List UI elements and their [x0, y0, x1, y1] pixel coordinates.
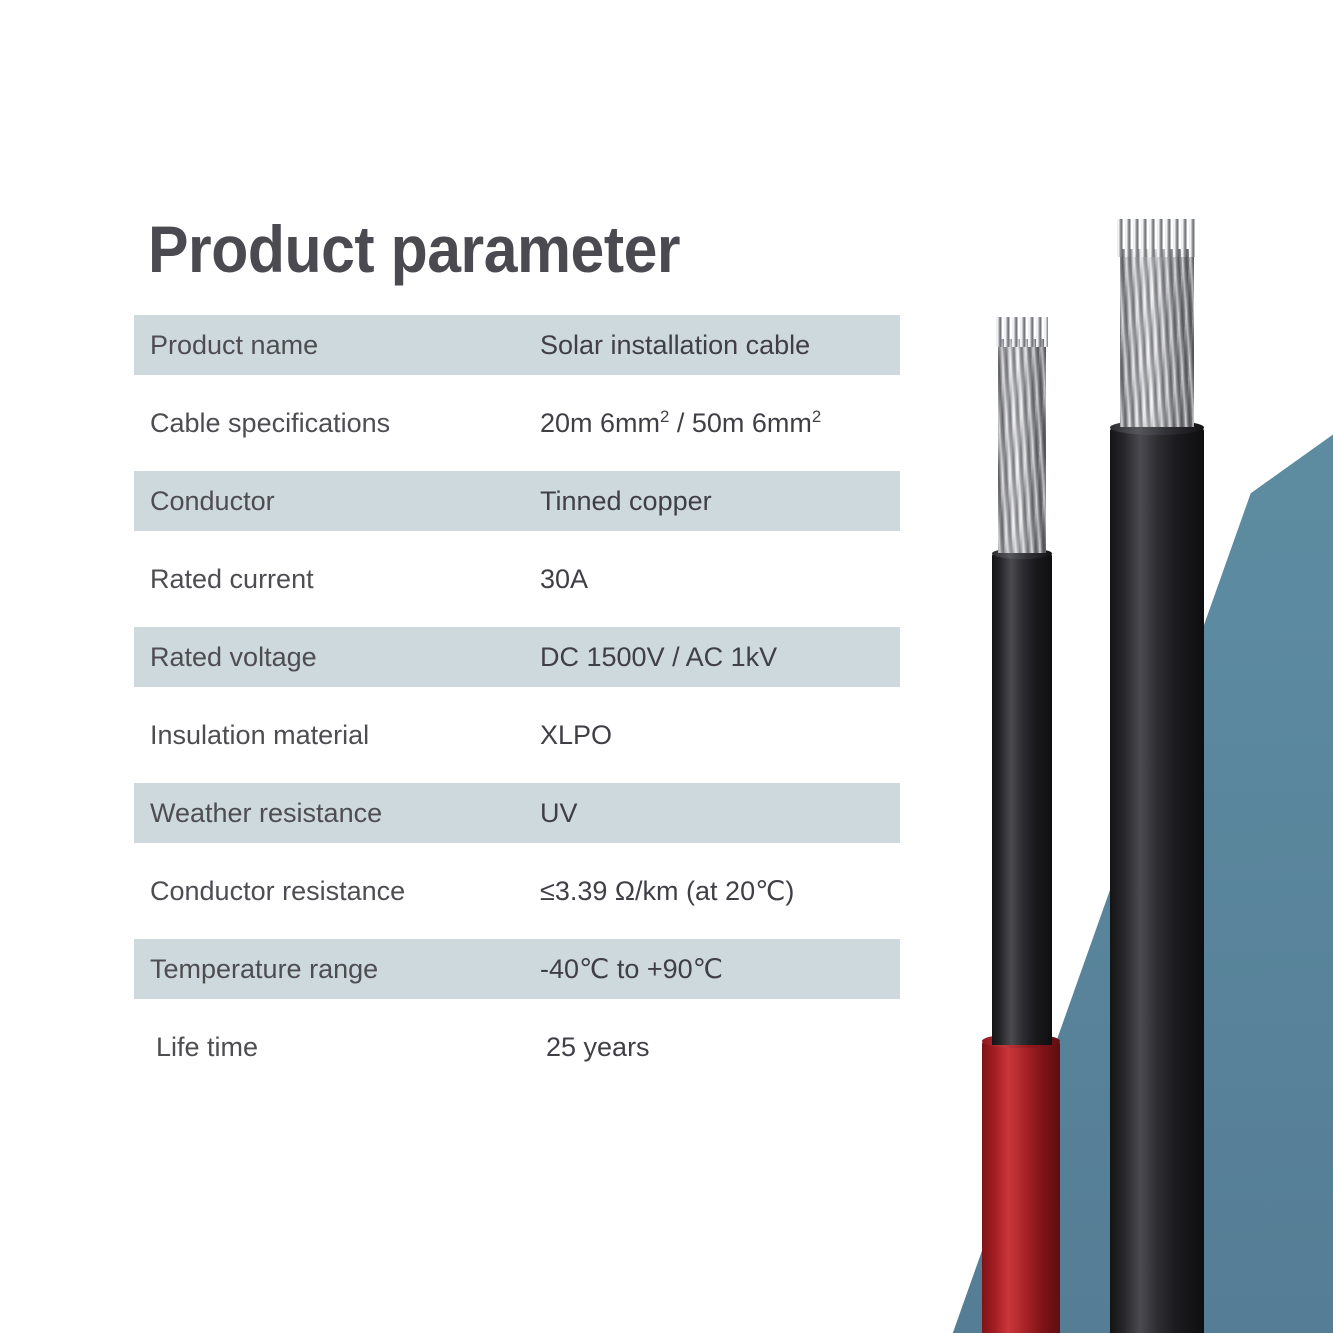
spec-label: Rated current: [150, 564, 314, 595]
spec-value: XLPO: [540, 720, 612, 751]
spec-value: UV: [540, 798, 578, 829]
spec-row: Product nameSolar installation cable: [134, 315, 900, 375]
spec-row: Life time25 years: [134, 1017, 900, 1077]
product-parameter-page: Product parameter Product nameSolar inst…: [0, 0, 1333, 1333]
spec-value: -40℃ to +90℃: [540, 954, 723, 985]
spec-label: Product name: [150, 330, 318, 361]
spec-row: Temperature range-40℃ to +90℃: [134, 939, 900, 999]
spec-label: Cable specifications: [150, 408, 390, 439]
spec-label: Insulation material: [150, 720, 369, 751]
thick-cable-copper-strands: [1120, 249, 1194, 427]
thick-solar-cable: [1106, 0, 1216, 1333]
thin-cable-strand-tips: [996, 317, 1048, 347]
spec-value: 30A: [540, 564, 588, 595]
spec-label: Rated voltage: [150, 642, 317, 673]
spec-label: Conductor resistance: [150, 876, 405, 907]
page-title: Product parameter: [148, 209, 680, 289]
thick-cable-strand-tips: [1117, 219, 1197, 257]
thin-cable-red-jacket: [982, 1041, 1060, 1333]
thick-cable-black-jacket: [1110, 428, 1204, 1333]
spec-row: ConductorTinned copper: [134, 471, 900, 531]
spec-row: Weather resistanceUV: [134, 783, 900, 843]
spec-row: Rated voltageDC 1500V / AC 1kV: [134, 627, 900, 687]
spec-table: Product nameSolar installation cableCabl…: [134, 315, 900, 1095]
thin-cable-copper-strands: [998, 339, 1046, 553]
spec-row: Insulation materialXLPO: [134, 705, 900, 765]
spec-row: Conductor resistance≤3.39 Ω/km (at 20℃): [134, 861, 900, 921]
spec-value: DC 1500V / AC 1kV: [540, 642, 777, 673]
product-photo: [900, 0, 1333, 1333]
spec-row: Rated current30A: [134, 549, 900, 609]
spec-value: Tinned copper: [540, 486, 712, 517]
spec-value: 25 years: [546, 1032, 650, 1063]
spec-label: Weather resistance: [150, 798, 382, 829]
thin-cable-black-jacket: [992, 553, 1052, 1045]
spec-label: Conductor: [150, 486, 275, 517]
spec-row: Cable specifications20m 6mm2 / 50m 6mm2: [134, 393, 900, 453]
spec-value: ≤3.39 Ω/km (at 20℃): [540, 876, 794, 907]
spec-value: 20m 6mm2 / 50m 6mm2: [540, 408, 821, 439]
spec-value: Solar installation cable: [540, 330, 810, 361]
thin-solar-cable: [978, 573, 1064, 1333]
spec-label: Life time: [156, 1032, 258, 1063]
spec-label: Temperature range: [150, 954, 378, 985]
